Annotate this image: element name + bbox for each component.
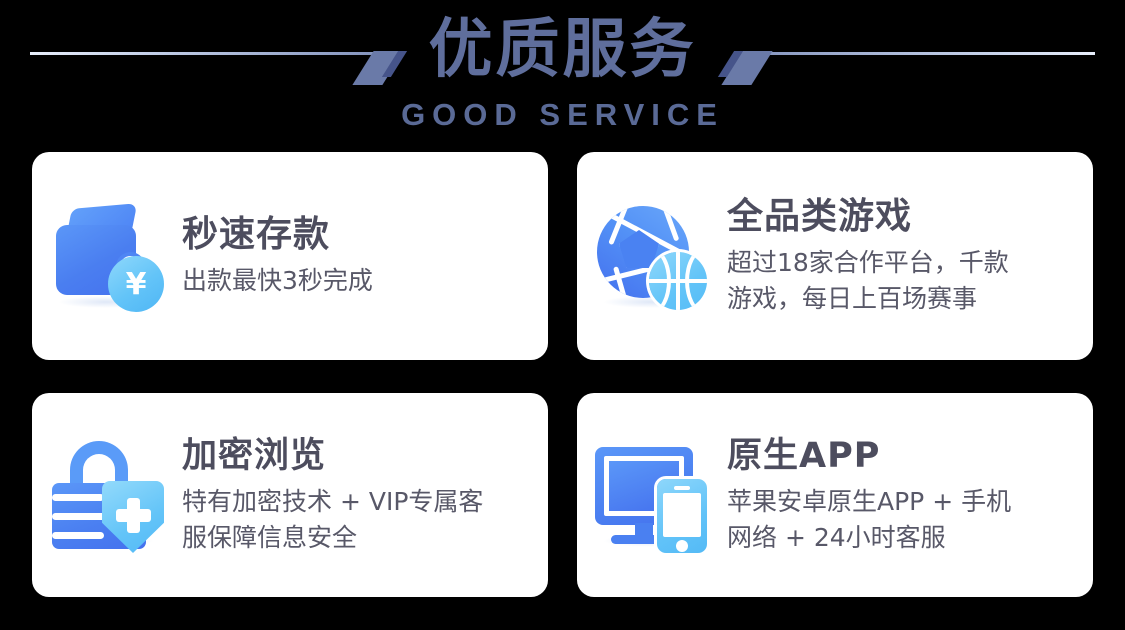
lock-shield-icon xyxy=(32,393,182,597)
feature-card-encryption[interactable]: 加密浏览 特有加密技术 + VIP专属客 服保障信息安全 xyxy=(32,393,548,597)
card-desc: 出款最快3秒完成 xyxy=(182,263,373,299)
page-subtitle: GOOD SERVICE xyxy=(0,97,1125,133)
card-text-block: 加密浏览 特有加密技术 + VIP专属客 服保障信息安全 xyxy=(182,434,497,556)
card-text-block: 原生APP 苹果安卓原生APP + 手机 网络 + 24小时客服 xyxy=(727,434,1025,556)
card-title: 秒速存款 xyxy=(182,213,373,257)
soccer-basketball-icon xyxy=(577,152,727,360)
card-desc-line: 苹果安卓原生APP + 手机 xyxy=(727,484,1011,520)
feature-card-grid: ¥ 秒速存款 出款最快3秒完成 xyxy=(32,152,1093,598)
card-desc-line: 游戏，每日上百场赛事 xyxy=(727,281,1009,317)
page-title: 优质服务 xyxy=(0,12,1125,88)
card-text-block: 全品类游戏 超过18家合作平台，千款 游戏，每日上百场赛事 xyxy=(727,195,1023,317)
good-service-banner: 优质服务 GOOD SERVICE ¥ 秒速存款 出款最快3秒完成 xyxy=(0,0,1125,630)
card-desc-line: 特有加密技术 + VIP专属客 xyxy=(182,484,483,520)
feature-card-deposit[interactable]: ¥ 秒速存款 出款最快3秒完成 xyxy=(32,152,548,360)
monitor-phone-icon xyxy=(577,393,727,597)
feature-card-native-app[interactable]: 原生APP 苹果安卓原生APP + 手机 网络 + 24小时客服 xyxy=(577,393,1093,597)
card-desc-line: 网络 + 24小时客服 xyxy=(727,520,1011,556)
card-text-block: 秒速存款 出款最快3秒完成 xyxy=(182,213,387,299)
feature-card-games[interactable]: 全品类游戏 超过18家合作平台，千款 游戏，每日上百场赛事 xyxy=(577,152,1093,360)
card-title: 原生APP xyxy=(727,434,1011,478)
card-desc-line: 超过18家合作平台，千款 xyxy=(727,245,1009,281)
phone-icon xyxy=(657,479,707,553)
card-desc-line: 服保障信息安全 xyxy=(182,520,483,556)
banner-header: 优质服务 GOOD SERVICE xyxy=(0,0,1125,145)
card-title: 加密浏览 xyxy=(182,434,483,478)
basketball-icon xyxy=(649,252,707,310)
yen-coin-icon: ¥ xyxy=(108,256,164,312)
card-title: 全品类游戏 xyxy=(727,195,1009,239)
wallet-yen-icon: ¥ xyxy=(32,152,182,360)
